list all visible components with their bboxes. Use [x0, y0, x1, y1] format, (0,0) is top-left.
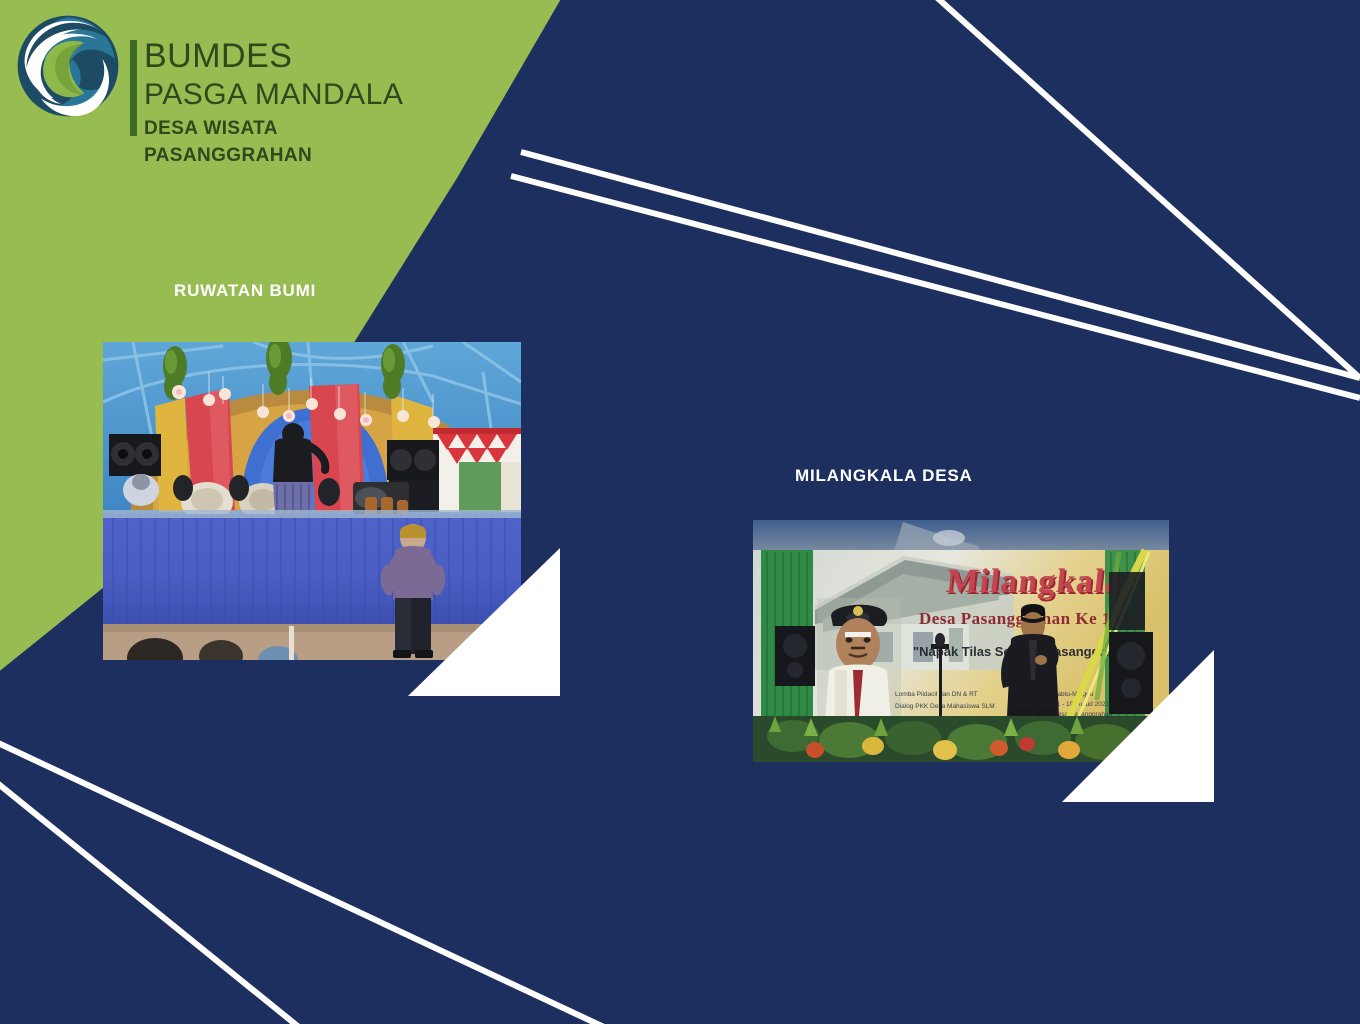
- svg-text:Lomba Pildacil dan DN & RT: Lomba Pildacil dan DN & RT: [895, 691, 978, 698]
- section-caption-milangkala: MILANGKALA DESA: [795, 466, 973, 486]
- brand-subtitle-line1: DESA WISATA: [130, 117, 440, 141]
- photo-ruwatan-bumi: [103, 342, 521, 660]
- photo-milangkala-desa-image: Milangkala Milangkala Desa Pasanggrahan …: [753, 520, 1169, 762]
- section-caption-ruwatan: RUWATAN BUMI: [174, 281, 316, 301]
- photo-milangkala-desa: Milangkala Milangkala Desa Pasanggrahan …: [753, 520, 1169, 762]
- brand-title-primary: BUMDES: [130, 36, 440, 76]
- water-leaf-circle-logo-icon: [14, 12, 122, 120]
- svg-text:21 - 19 Mulud 2021: 21 - 19 Mulud 2021: [1053, 701, 1109, 708]
- brand-subtitle-line2: PASANGGRAHAN: [130, 144, 440, 168]
- photo-ruwatan-bumi-image: [103, 342, 521, 660]
- presentation-slide: BUMDES PASGA MANDALA DESA WISATA PASANGG…: [0, 0, 1360, 1024]
- brand-title-secondary: PASGA MANDALA: [130, 76, 440, 114]
- brand-text-group: BUMDES PASGA MANDALA DESA WISATA PASANGG…: [130, 36, 440, 168]
- svg-text:Milangkala: Milangkala: [945, 563, 1125, 600]
- svg-text:Dialog PKK Desa Mahasiswa SLM: Dialog PKK Desa Mahasiswa SLM: [895, 703, 995, 710]
- brand-logo-block: BUMDES PASGA MANDALA DESA WISATA PASANGG…: [8, 6, 438, 196]
